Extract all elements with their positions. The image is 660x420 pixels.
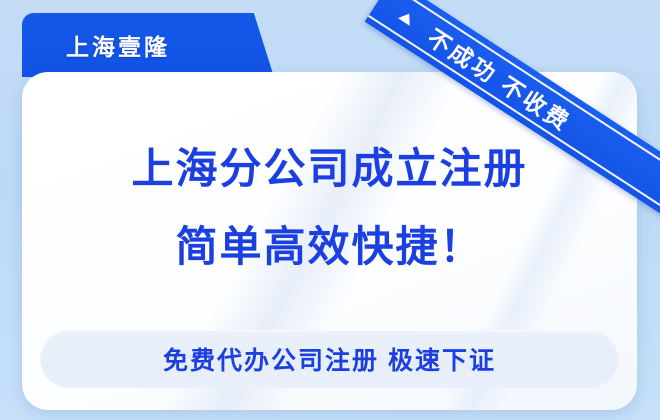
promo-banner: 上海壹隆 上海分公司成立注册 简单高效快捷！ 免费代办公司注册 极速下证 不成功… bbox=[0, 0, 660, 420]
footer-pill-label: 免费代办公司注册 极速下证 bbox=[163, 341, 496, 377]
headline-block: 上海分公司成立注册 简单高效快捷！ bbox=[22, 148, 637, 268]
headline-line-2: 简单高效快捷！ bbox=[22, 226, 637, 268]
company-name-tab: 上海壹隆 bbox=[22, 13, 274, 77]
headline-line-1: 上海分公司成立注册 bbox=[22, 148, 637, 190]
triangle-up-icon bbox=[398, 10, 415, 26]
footer-pill[interactable]: 免费代办公司注册 极速下证 bbox=[40, 330, 619, 388]
company-name-label: 上海壹隆 bbox=[66, 28, 170, 62]
